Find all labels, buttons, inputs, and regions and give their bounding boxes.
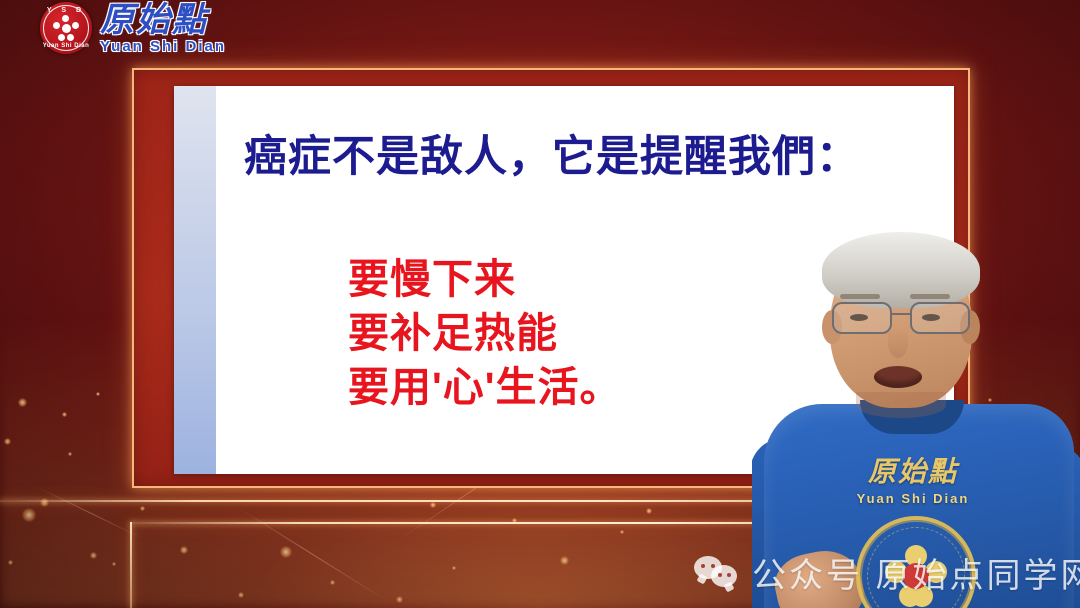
wechat-dot [711, 564, 715, 568]
brand-seal-icon: Y S D Yuan Shi Dian [40, 2, 92, 54]
presenter-eyebrow-right [910, 294, 950, 299]
slide-line-3: 要用'心'生活。 [348, 360, 622, 414]
glasses-lens-right [910, 302, 970, 334]
wechat-dot [718, 573, 722, 577]
wechat-bubble-front [711, 565, 737, 587]
presenter-chin [856, 392, 946, 418]
seal-initials: Y S D [40, 7, 92, 14]
seal-center [62, 24, 71, 33]
brand-text: 原始點 Yuan Shi Dian [100, 3, 226, 54]
brand-name-english: Yuan Shi Dian [100, 39, 226, 54]
wechat-dot [727, 573, 731, 577]
presenter-eyebrow-left [840, 294, 880, 299]
slide-accent-strip [174, 86, 216, 474]
channel-brand: Y S D Yuan Shi Dian 原始點 Yuan Shi Dian [40, 2, 226, 54]
decor-frame-line-vertical [130, 522, 132, 608]
glasses-bridge [890, 313, 912, 315]
presenter-mouth [874, 366, 922, 388]
wechat-dot [701, 564, 705, 568]
presenter-nose [888, 328, 908, 358]
slide-line-2: 要补足热能 [348, 306, 622, 360]
glasses-lens-left [832, 302, 892, 334]
shirt-logo-english: Yuan Shi Dian [820, 491, 1006, 506]
slide-heading: 癌症不是敌人，它是提醒我們： [244, 134, 860, 181]
video-frame: 癌症不是敌人，它是提醒我們： 要慢下来 要补足热能 要用'心'生活。 原始點 Y… [0, 0, 1080, 608]
brand-name-chinese: 原始點 [100, 3, 226, 37]
wechat-icon [694, 556, 740, 590]
shirt-logo: 原始點 Yuan Shi Dian [820, 458, 1006, 506]
slide-body-lines: 要慢下来 要补足热能 要用'心'生活。 [348, 252, 622, 414]
seal-subtitle: Yuan Shi Dian [40, 43, 92, 49]
shirt-logo-chinese: 原始點 [820, 458, 1006, 486]
watermark-text: 公众号 原始点同学网 [752, 548, 1080, 597]
slide-line-1: 要慢下来 [348, 252, 622, 306]
watermark: 公众号 原始点同学网 [694, 548, 1080, 597]
